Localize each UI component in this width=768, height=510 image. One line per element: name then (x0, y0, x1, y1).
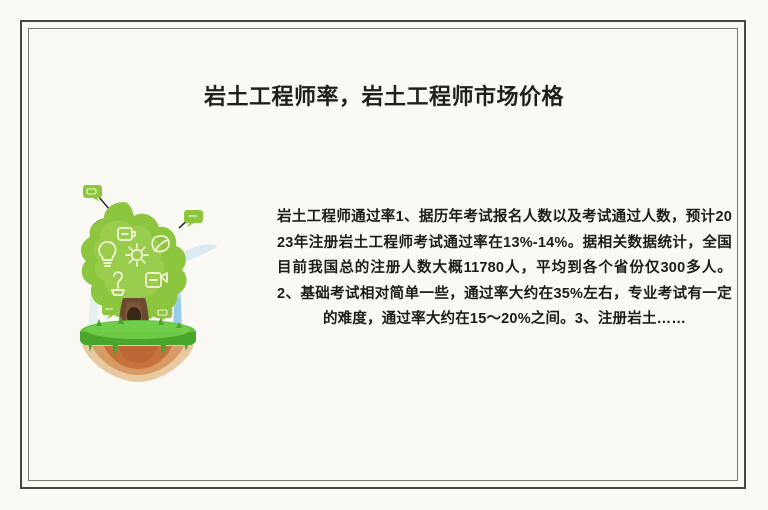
illustration-svg (66, 180, 226, 385)
page-title: 岩土工程师率，岩土工程师市场价格 (0, 79, 768, 111)
soil-base (82, 342, 194, 382)
tag-right (184, 210, 203, 227)
tag-island-right (154, 306, 172, 322)
content-row: 岩土工程师通过率1、据历年考试报名人数以及考试通过人数，预计2023年注册岩土工… (28, 175, 738, 395)
tag-top-left (83, 185, 102, 202)
eco-floating-island-illustration (66, 180, 226, 385)
page-root: 岩土工程师率，岩土工程师市场价格 (0, 0, 768, 510)
article-body: 岩土工程师通过率1、据历年考试报名人数以及考试通过人数，预计2023年注册岩土工… (277, 205, 732, 333)
